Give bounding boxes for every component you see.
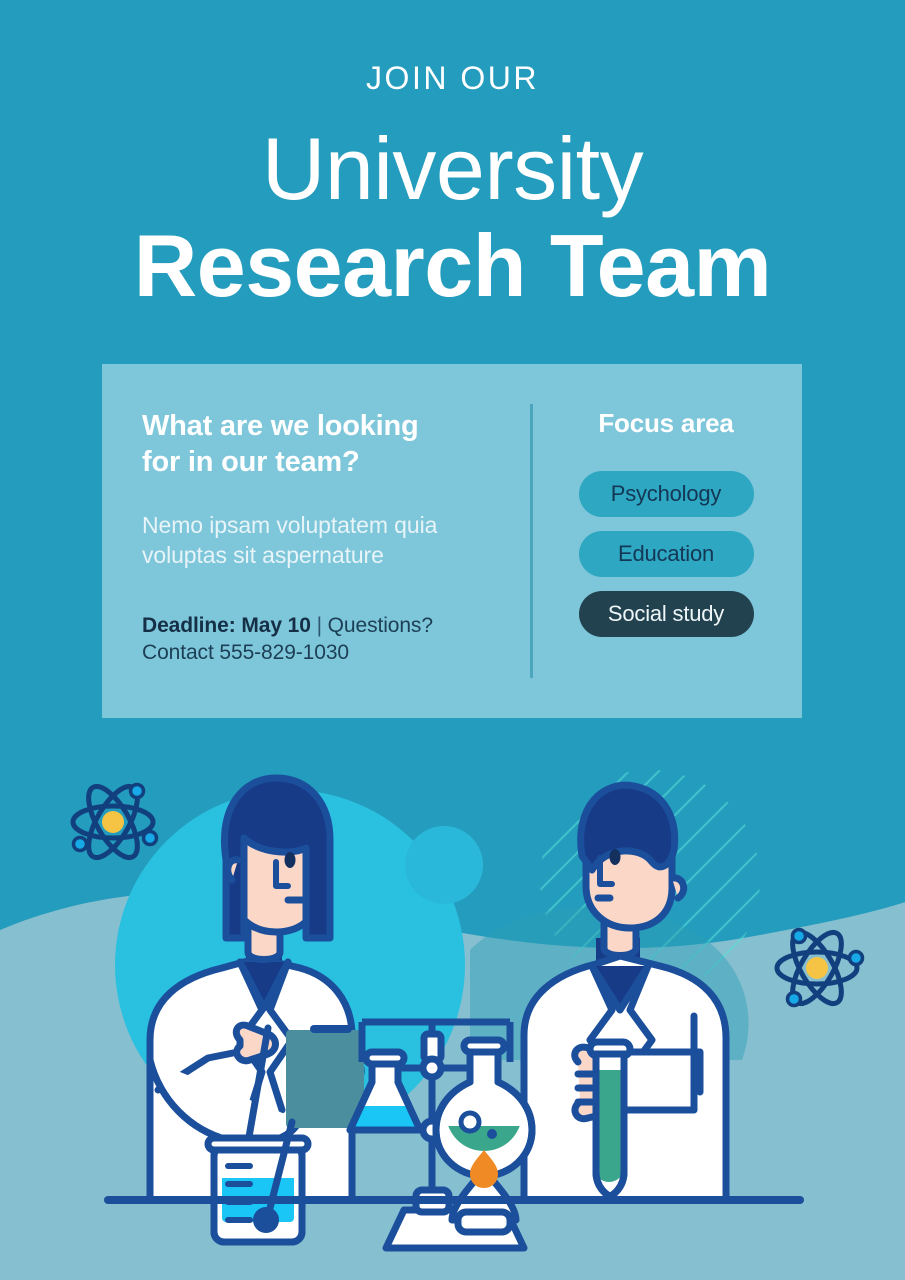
deadline-line: Deadline: May 10 | Questions?: [142, 613, 530, 640]
info-card-left-column: What are we looking for in our team? Nem…: [102, 364, 530, 718]
focus-pill-social-study[interactable]: Social study: [579, 591, 754, 637]
card-body-line-1: Nemo ipsam voluptatem quia: [142, 510, 530, 541]
info-card-right-column: Focus area Psychology Education Social s…: [530, 364, 802, 718]
test-tube-green: [590, 1042, 632, 1200]
questions-text: Questions?: [328, 614, 433, 637]
card-body-line-2: voluptas sit aspernature: [142, 540, 530, 571]
focus-pill-psychology[interactable]: Psychology: [579, 471, 754, 517]
card-heading-line-2: for in our team?: [142, 445, 530, 481]
contact-line: Contact 555-829-1030: [142, 640, 530, 667]
card-heading: What are we looking for in our team?: [142, 409, 530, 481]
eyebrow-text: JOIN OUR: [0, 62, 905, 94]
decor-circle-small: [405, 826, 483, 904]
poster-root: JOIN OUR University Research Team What a…: [0, 0, 905, 1280]
card-body-text: Nemo ipsam voluptatem quia voluptas sit …: [142, 510, 530, 571]
info-card: What are we looking for in our team? Nem…: [102, 364, 802, 718]
focus-area-title: Focus area: [530, 408, 802, 439]
poster-header: JOIN OUR University Research Team: [0, 0, 905, 313]
card-divider: [530, 404, 533, 678]
title-line-2: Research Team: [0, 219, 905, 312]
card-footer-text: Deadline: May 10 | Questions? Contact 55…: [142, 613, 530, 667]
focus-area-pill-list: Psychology Education Social study: [530, 471, 802, 637]
card-heading-line-1: What are we looking: [142, 409, 530, 445]
footer-separator: |: [317, 614, 322, 637]
title-line-1: University: [0, 122, 905, 215]
clipboard: [286, 1025, 364, 1128]
beaker-with-blue-liquid: [208, 1122, 308, 1248]
focus-pill-education[interactable]: Education: [579, 531, 754, 577]
deadline-label: Deadline: May 10: [142, 614, 311, 637]
